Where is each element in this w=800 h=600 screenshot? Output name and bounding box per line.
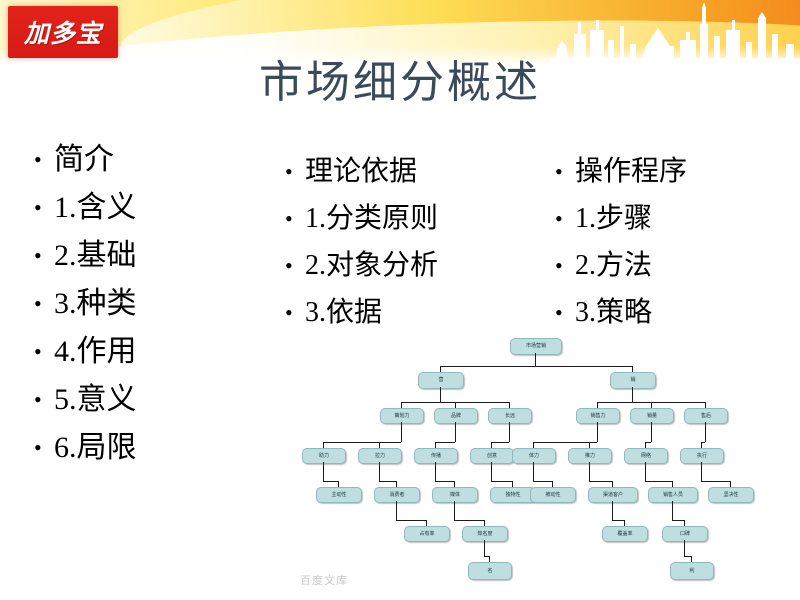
bullet-dot-icon: • [34, 428, 54, 468]
bullet-item-label: 2.基础 [54, 236, 137, 276]
bullet-column-left: •简介•1.含义•2.基础•3.种类•4.作用•5.意义•6.局限 [34, 140, 244, 476]
diagram-node: 坚决性 [708, 487, 754, 503]
bullet-item-label: 2.方法 [575, 246, 652, 285]
bullet-dot-icon: • [285, 199, 305, 238]
bullet-dot-icon: • [285, 152, 305, 191]
diagram-connector [684, 540, 685, 556]
diagram-connector [624, 520, 625, 526]
bullet-item-label: 3.依据 [305, 293, 382, 332]
bullet-item-label: 理论依据 [305, 152, 417, 191]
diagram-connector [454, 501, 455, 520]
diagram-node: 品牌 [434, 408, 478, 424]
diagram-node: 消费者 [374, 487, 420, 503]
bullet-dot-icon: • [34, 236, 54, 276]
diagram-connector [701, 462, 702, 481]
diagram-node: 助力 [302, 448, 346, 464]
diagram-connector [489, 556, 490, 562]
bullet-dot-icon: • [34, 380, 54, 420]
diagram-connector [533, 481, 552, 482]
bullet-item-label: 3.种类 [54, 284, 137, 324]
bullet-item: •2.对象分析 [285, 246, 535, 285]
diagram-connector [632, 402, 705, 403]
diagram-connector [512, 481, 513, 487]
diagram-connector [533, 462, 534, 481]
diagram-node: 策划力 [380, 408, 424, 424]
diagram-connector [672, 501, 673, 520]
diagram-connector [612, 481, 613, 487]
bullet-item: •1.含义 [34, 188, 244, 228]
diagram-connector [440, 402, 509, 403]
diagram-connector [509, 422, 510, 442]
bullet-column-right: •操作程序•1.步骤•2.方法•3.策略 [555, 152, 795, 340]
diagram-connector [672, 520, 684, 521]
diagram-connector [491, 481, 512, 482]
diagram-connector [684, 520, 685, 526]
diagram-node: 主动性 [316, 487, 362, 503]
diagram-connector [455, 422, 456, 442]
diagram-connector [632, 387, 633, 402]
diagram-node: 传播 [414, 448, 458, 464]
diagram-connector [440, 366, 441, 372]
bullet-item: •6.局限 [34, 428, 244, 468]
diagram-node: 利 [670, 562, 714, 580]
bullet-item: •理论依据 [285, 152, 535, 191]
diagram-connector [379, 462, 380, 481]
bullet-item: •1.分类原则 [285, 199, 535, 238]
diagram-node: 执行 [680, 448, 724, 464]
diagram-node: 被动性 [530, 487, 576, 503]
diagram-connector [401, 402, 440, 403]
bullet-dot-icon: • [555, 152, 575, 191]
bullet-item: •2.方法 [555, 246, 795, 285]
diagram-node: 覆盖率 [602, 526, 648, 542]
diagram-node: 销量 [630, 408, 674, 424]
diagram-node: 知名度 [462, 526, 508, 542]
diagram-node: 口碑 [662, 526, 708, 542]
diagram-node: 网络 [624, 448, 668, 464]
bullet-column-middle: •理论依据•1.分类原则•2.对象分析•3.依据 [285, 152, 535, 340]
presentation-slide: 加多宝 市场细分概述 •简介•1.含义•2.基础•3.种类•4.作用•5.意义•… [0, 0, 800, 600]
diagram-node: 销 [610, 372, 656, 389]
bullet-dot-icon: • [555, 199, 575, 238]
diagram-connector [454, 520, 484, 521]
bullet-dot-icon: • [555, 246, 575, 285]
bullet-item: •4.作用 [34, 332, 244, 372]
diagram-connector [701, 442, 702, 448]
bullet-dot-icon: • [555, 293, 575, 332]
diagram-connector [645, 462, 646, 481]
diagram-connector [323, 442, 324, 448]
bullet-item-label: 6.局限 [54, 428, 137, 468]
diagram-connector [396, 520, 426, 521]
diagram-connector [632, 366, 633, 372]
diagram-node: 渠道客户 [588, 487, 638, 503]
bullet-dot-icon: • [34, 332, 54, 372]
diagram-connector [484, 520, 485, 526]
bullet-item: •操作程序 [555, 152, 795, 191]
bullet-dot-icon: • [285, 246, 305, 285]
diagram-node: 长远 [488, 408, 532, 424]
diagram-connector [589, 481, 612, 482]
bullet-dot-icon: • [34, 284, 54, 324]
watermark-text: 百度文库 [300, 572, 348, 588]
diagram-connector [533, 442, 597, 443]
diagram-connector [379, 481, 396, 482]
diagram-connector [435, 481, 454, 482]
diagram-node: 拉力 [358, 448, 402, 464]
diagram-connector [691, 556, 692, 562]
bullet-dot-icon: • [285, 293, 305, 332]
diagram-connector [533, 442, 534, 448]
diagram-connector [426, 520, 427, 526]
diagram-connector [379, 442, 380, 448]
diagram-connector [552, 481, 553, 487]
diagram-connector [705, 422, 706, 442]
diagram-connector [401, 402, 402, 408]
bullet-dot-icon: • [34, 188, 54, 228]
diagram-connector [597, 402, 632, 403]
bullet-item-label: 3.策略 [575, 293, 652, 332]
diagram-connector [612, 520, 624, 521]
diagram-connector [597, 422, 598, 442]
diagram-connector [323, 462, 324, 481]
diagram-connector [589, 462, 590, 481]
diagram-connector [672, 481, 673, 487]
diagram-node: 销售人员 [648, 487, 698, 503]
diagram-node: 销售力 [576, 408, 620, 424]
diagram-connector [491, 442, 509, 443]
diagram-connector [440, 366, 535, 367]
marketing-tree-diagram: 市场营销营销策划力品牌长远销售力销量售后助力拉力传播创意体力推力网络执行主动性消… [258, 330, 788, 595]
bullet-item-label: 2.对象分析 [305, 246, 438, 285]
bullet-item-label: 操作程序 [575, 152, 687, 191]
diagram-connector [401, 422, 402, 442]
brand-logo-text: 加多宝 [24, 14, 102, 50]
diagram-connector [597, 402, 598, 408]
diagram-connector [535, 366, 632, 367]
diagram-node: 创意 [470, 448, 514, 464]
page-title: 市场细分概述 [0, 46, 800, 110]
bullet-item-label: 1.含义 [54, 188, 137, 228]
diagram-connector [396, 481, 397, 487]
bullet-dot-icon: • [34, 140, 54, 180]
bullet-item-label: 5.意义 [54, 380, 137, 420]
bullet-item: •简介 [34, 140, 244, 180]
diagram-node: 市场营销 [510, 338, 562, 355]
bullet-item: •5.意义 [34, 380, 244, 420]
diagram-node: 名 [468, 562, 512, 580]
diagram-connector [435, 462, 436, 481]
bullet-item: •3.策略 [555, 293, 795, 332]
diagram-node: 售后 [684, 408, 728, 424]
diagram-connector [491, 462, 492, 481]
diagram-connector [379, 442, 401, 443]
diagram-connector [651, 422, 652, 442]
bullet-item-label: 简介 [54, 140, 114, 180]
diagram-connector [589, 442, 590, 448]
bullet-item: •3.种类 [34, 284, 244, 324]
diagram-connector [484, 540, 485, 556]
diagram-connector [645, 442, 646, 448]
bullet-item-label: 4.作用 [54, 332, 137, 372]
diagram-connector [435, 442, 436, 448]
diagram-connector [612, 501, 613, 520]
diagram-connector [535, 353, 536, 366]
diagram-connector [338, 481, 339, 487]
bullet-item-label: 1.分类原则 [305, 199, 438, 238]
diagram-connector [645, 481, 672, 482]
diagram-connector [701, 481, 730, 482]
diagram-connector [730, 481, 731, 487]
bullet-item: •2.基础 [34, 236, 244, 276]
diagram-connector [491, 442, 492, 448]
diagram-node: 媒体 [432, 487, 478, 503]
diagram-node: 体力 [512, 448, 556, 464]
diagram-node: 占有率 [404, 526, 450, 542]
diagram-connector [435, 442, 455, 443]
diagram-connector [396, 501, 397, 520]
bullet-item: •3.依据 [285, 293, 535, 332]
diagram-connector [440, 387, 441, 402]
diagram-connector [454, 481, 455, 487]
bullet-item-label: 1.步骤 [575, 199, 652, 238]
diagram-connector [589, 442, 597, 443]
diagram-connector [509, 402, 510, 408]
bullet-item: •1.步骤 [555, 199, 795, 238]
diagram-connector [705, 402, 706, 408]
diagram-node: 营 [418, 372, 464, 389]
diagram-node: 推力 [568, 448, 612, 464]
diagram-connector [684, 556, 691, 557]
diagram-connector [323, 481, 338, 482]
